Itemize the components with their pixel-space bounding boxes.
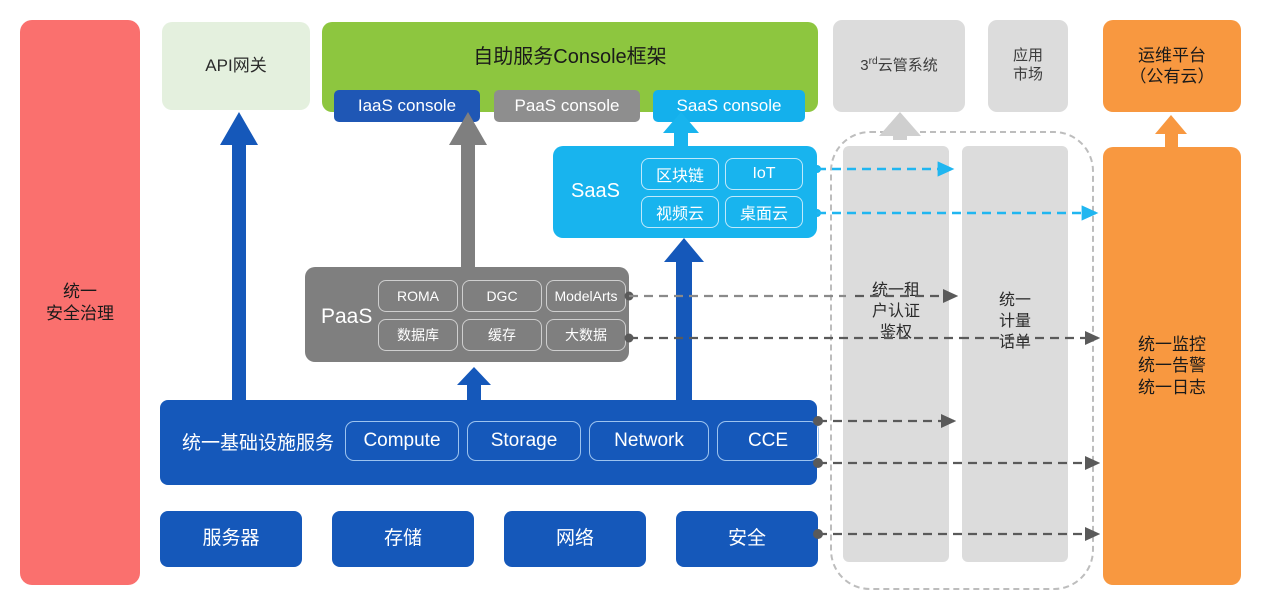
- arrow-iaas-to-saas: [664, 238, 704, 402]
- shared-service-column-auth: [843, 146, 949, 562]
- saas-block-label: SaaS: [571, 180, 620, 203]
- paas-chip-dgc-label: DGC: [486, 288, 517, 304]
- infra-card-security-label: 安全: [728, 527, 766, 551]
- iaas-chip-network-label: Network: [614, 430, 684, 452]
- metering-line-1: 统一: [962, 291, 1068, 312]
- iaas-chip-compute-label: Compute: [363, 430, 440, 452]
- infra-card-storage[interactable]: 存储: [332, 511, 474, 567]
- saas-chip-desktop-cloud[interactable]: 桌面云: [725, 196, 803, 228]
- security-pillar-line-2: 安全治理: [46, 303, 114, 324]
- paas-chip-database-label: 数据库: [397, 325, 439, 345]
- paas-console-chip[interactable]: PaaS console: [494, 90, 640, 122]
- infra-card-storage-label: 存储: [384, 527, 422, 551]
- paas-chip-database[interactable]: 数据库: [378, 319, 458, 351]
- iaas-chip-cce-label: CCE: [748, 430, 788, 452]
- paas-chip-roma-label: ROMA: [397, 288, 439, 304]
- api-gateway-box[interactable]: API网关: [162, 22, 310, 110]
- saas-console-label: SaaS console: [677, 96, 782, 116]
- shared-service-auth-label: 统一租 户认证 鉴权: [843, 281, 949, 343]
- auth-line-1: 统一租: [843, 281, 949, 302]
- app-market-line-2: 市场: [1013, 66, 1043, 85]
- saas-block: SaaS 区块链 IoT 视频云 桌面云: [553, 146, 817, 238]
- paas-chip-cache[interactable]: 缓存: [462, 319, 542, 351]
- metering-line-3: 话单: [962, 333, 1068, 354]
- arrow-paas-to-console: [449, 112, 487, 268]
- saas-chip-video-cloud[interactable]: 视频云: [641, 196, 719, 228]
- unified-infrastructure-service-bar: 统一基础设施服务 Compute Storage Network CCE: [160, 400, 817, 485]
- ops-platform-line-2: （公有云）: [1130, 66, 1215, 87]
- ops-pillar-line-2: 统一告警: [1138, 355, 1206, 376]
- iaas-console-chip[interactable]: IaaS console: [334, 90, 480, 122]
- ops-platform-public-cloud-box[interactable]: 运维平台 （公有云）: [1103, 20, 1241, 112]
- saas-chip-desktop-cloud-label: 桌面云: [740, 200, 788, 224]
- paas-chip-bigdata[interactable]: 大数据: [546, 319, 626, 351]
- app-market-box[interactable]: 应用 市场: [988, 20, 1068, 112]
- paas-chip-dgc[interactable]: DGC: [462, 280, 542, 312]
- paas-chip-modelarts[interactable]: ModelArts: [546, 280, 626, 312]
- arrow-iaas-to-paas: [457, 367, 491, 402]
- infra-card-server-label: 服务器: [202, 527, 259, 551]
- saas-console-chip[interactable]: SaaS console: [653, 90, 805, 122]
- dashed-paas-to-auth: [625, 292, 847, 301]
- third-party-cloud-management-box[interactable]: 3rd云管系统: [833, 20, 965, 112]
- architecture-diagram: 统一租 户认证 鉴权 统一 计量 话单 统一 安全治理 API网关 自助服务Co…: [0, 0, 1265, 605]
- paas-block: PaaS ROMA DGC ModelArts 数据库 缓存 大数据: [305, 267, 629, 362]
- security-pillar-line-1: 统一: [46, 281, 114, 302]
- shared-service-metering-label: 统一 计量 话单: [962, 291, 1068, 353]
- paas-chip-roma[interactable]: ROMA: [378, 280, 458, 312]
- self-service-console-frame: 自助服务Console框架 IaaS console PaaS console …: [322, 22, 818, 112]
- api-gateway-label: API网关: [205, 55, 266, 76]
- iaas-chip-network[interactable]: Network: [589, 421, 709, 461]
- saas-chip-iot-label: IoT: [752, 165, 775, 183]
- auth-line-2: 户认证: [843, 302, 949, 323]
- ops-pillar-line-1: 统一监控: [1138, 334, 1206, 355]
- iaas-console-label: IaaS console: [358, 96, 456, 116]
- saas-chip-blockchain[interactable]: 区块链: [641, 158, 719, 190]
- paas-block-label: PaaS: [321, 305, 372, 329]
- iaas-chip-storage[interactable]: Storage: [467, 421, 581, 461]
- infra-card-network[interactable]: 网络: [504, 511, 646, 567]
- ops-pillar-line-3: 统一日志: [1138, 377, 1206, 398]
- paas-chip-bigdata-label: 大数据: [565, 325, 607, 345]
- arrow-ops-pillar-to-ops-platform: [1155, 115, 1187, 147]
- metering-line-2: 计量: [962, 312, 1068, 333]
- console-frame-title: 自助服务Console框架: [322, 40, 818, 69]
- infra-card-server[interactable]: 服务器: [160, 511, 302, 567]
- unified-monitoring-pillar: 统一监控 统一告警 统一日志: [1103, 147, 1241, 585]
- saas-chip-blockchain-label: 区块链: [656, 162, 704, 186]
- paas-chip-modelarts-label: ModelArts: [554, 288, 617, 304]
- paas-console-label: PaaS console: [515, 96, 620, 116]
- unified-security-governance-pillar: 统一 安全治理: [20, 20, 140, 585]
- paas-chip-cache-label: 缓存: [488, 325, 516, 345]
- iaas-chip-cce[interactable]: CCE: [717, 421, 819, 461]
- iaas-chip-compute[interactable]: Compute: [345, 421, 459, 461]
- third-party-label: 3rd云管系统: [860, 56, 937, 76]
- auth-line-3: 鉴权: [843, 323, 949, 344]
- infra-card-network-label: 网络: [556, 527, 594, 551]
- arrow-iaas-to-api-gateway: [214, 112, 258, 402]
- saas-chip-iot[interactable]: IoT: [725, 158, 803, 190]
- saas-chip-video-cloud-label: 视频云: [656, 200, 704, 224]
- iaas-bar-label: 统一基础设施服务: [182, 428, 334, 455]
- ops-platform-line-1: 运维平台: [1130, 45, 1215, 66]
- iaas-chip-storage-label: Storage: [491, 430, 558, 452]
- infra-card-security[interactable]: 安全: [676, 511, 818, 567]
- shared-service-column-metering: [962, 146, 1068, 562]
- app-market-line-1: 应用: [1013, 47, 1043, 66]
